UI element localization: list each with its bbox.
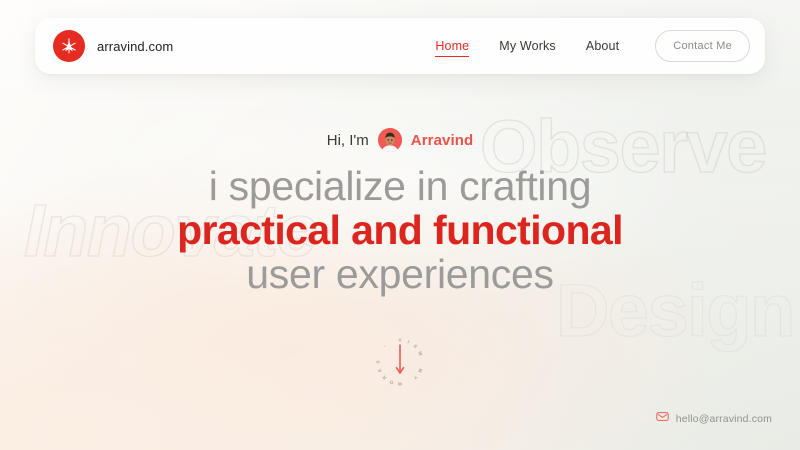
scroll-ring-char: O bbox=[389, 379, 394, 385]
arravind-logo-icon bbox=[53, 30, 85, 62]
main-nav: Home My Works About Contact Me bbox=[435, 30, 750, 62]
scroll-ring-char: W bbox=[398, 382, 402, 387]
watermark-observe: Observe bbox=[480, 104, 766, 189]
site-header: arravind.com Home My Works About Contact… bbox=[35, 18, 765, 74]
scroll-ring-char: E bbox=[413, 344, 419, 350]
contact-email[interactable]: hello@arravind.com bbox=[656, 410, 772, 428]
scroll-ring-char: K bbox=[377, 368, 383, 373]
contact-me-button[interactable]: Contact Me bbox=[655, 30, 750, 62]
nav-item-home[interactable]: Home bbox=[435, 39, 469, 53]
scroll-ring-char: W bbox=[417, 351, 423, 357]
brand[interactable]: arravind.com bbox=[53, 30, 173, 62]
watermark-innovate: Innovate bbox=[24, 188, 316, 273]
scroll-ring-char: · bbox=[382, 344, 387, 349]
scroll-ring-char: S bbox=[376, 360, 381, 363]
mail-icon bbox=[656, 410, 669, 428]
scroll-ring-char: R bbox=[381, 375, 387, 381]
brand-name: arravind.com bbox=[97, 39, 173, 54]
arrow-down-icon bbox=[396, 345, 405, 380]
scroll-ring-char: V bbox=[398, 338, 401, 343]
view-my-works-scroll-indicator[interactable]: VIEW MY WORKS · bbox=[373, 335, 427, 389]
scroll-ring-char: I bbox=[407, 339, 410, 344]
watermark-design: Design bbox=[556, 268, 794, 353]
nav-item-about[interactable]: About bbox=[586, 39, 619, 53]
scroll-ring-char: Y bbox=[413, 375, 419, 381]
scroll-ring-char: M bbox=[417, 368, 423, 373]
email-text: hello@arravind.com bbox=[676, 413, 772, 425]
nav-item-my-works[interactable]: My Works bbox=[499, 39, 556, 53]
